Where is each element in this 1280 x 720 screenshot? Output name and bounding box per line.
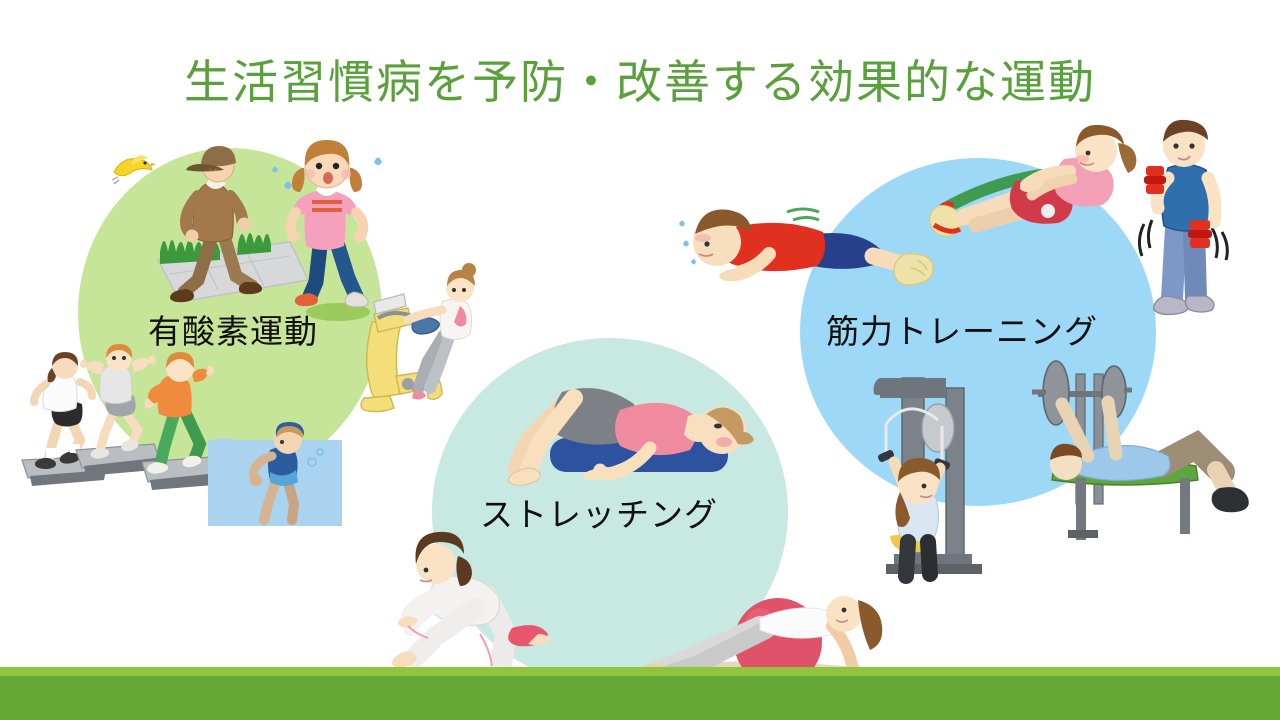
swimmer-woman-icon: [208, 426, 348, 526]
pushup-plank-man-icon: [665, 190, 950, 310]
footer-light-bar: [0, 667, 1280, 676]
footer-dark-bar: [0, 676, 1280, 720]
lat-pulldown-machine-woman-icon: [850, 368, 1020, 598]
bench-press-man-icon: [1020, 360, 1280, 545]
exercise-bike-woman-icon: [352, 258, 482, 418]
slide-canvas: 生活習慣病を予防・改善する効果的な運動: [0, 0, 1280, 720]
aerobic-label: 有酸素運動: [148, 305, 318, 353]
stretch-label: ストレッチング: [480, 488, 718, 536]
page-title: 生活習慣病を予防・改善する効果的な運動: [0, 46, 1280, 112]
strength-label: 筋力トレーニング: [826, 305, 1098, 353]
lying-bolster-stretch-woman-icon: [470, 356, 760, 496]
dumbbell-curl-man-icon: [1140, 120, 1280, 340]
standing-hamstring-stretch-woman-icon: [380, 530, 580, 680]
resistance-band-woman-icon: [920, 125, 1140, 265]
